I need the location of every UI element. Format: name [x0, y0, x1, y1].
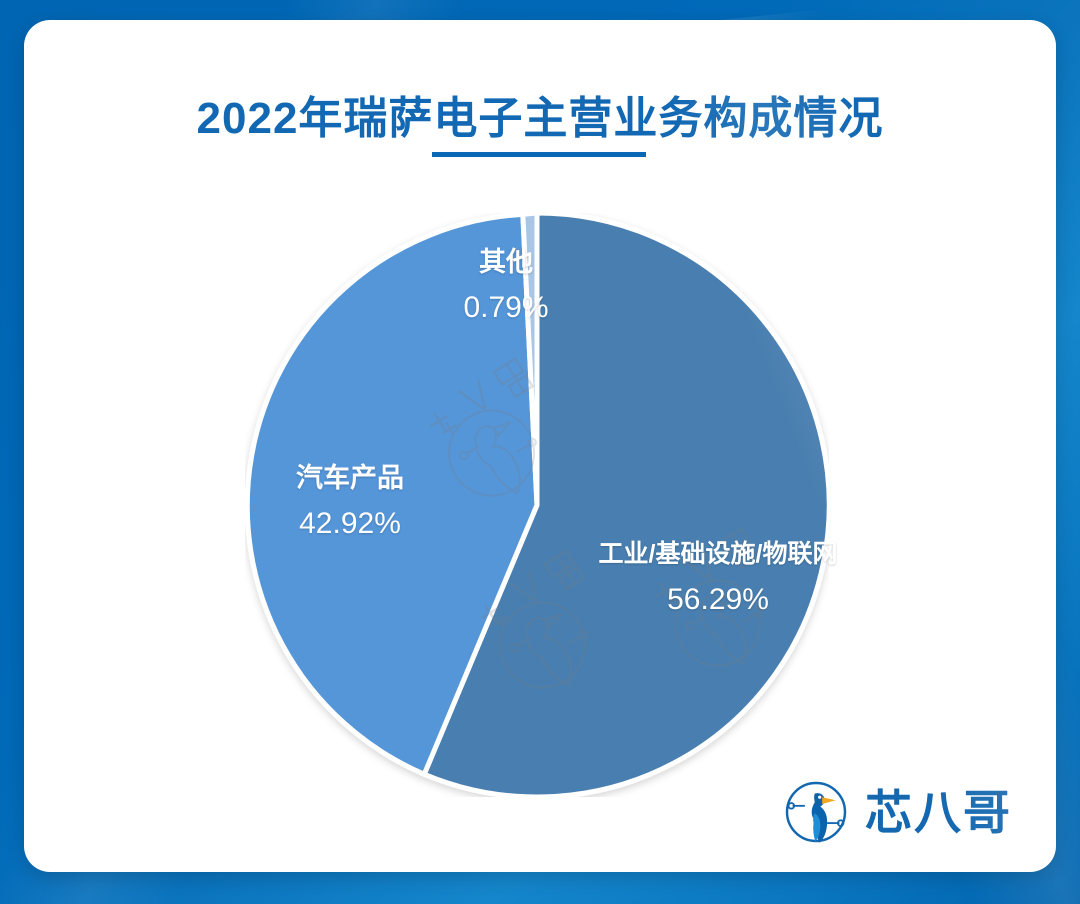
- bird-in-circle-icon: [779, 775, 853, 849]
- pie-label-other: 其他 0.79%: [426, 244, 586, 328]
- pie-label-industrial: 工业/基础设施/物联网 56.29%: [584, 538, 852, 620]
- pie-label-automotive: 汽车产品 42.92%: [240, 460, 460, 544]
- brand-logo: 芯八哥: [779, 774, 1012, 850]
- poster-background: 2022年瑞萨电子主营业务构成情况: [0, 0, 1080, 904]
- pie-label-automotive-value: 42.92%: [240, 504, 460, 544]
- brand-name: 芯八哥: [865, 789, 1012, 836]
- pie-label-industrial-name: 工业/基础设施/物联网: [584, 538, 852, 572]
- pie-chart: 其他 0.79% 汽车产品 42.92% 工业/基础设施/物联网 56.29%: [24, 188, 1056, 828]
- title-underline-rule: [432, 152, 646, 157]
- pie-label-other-name: 其他: [426, 244, 586, 280]
- page-title: 2022年瑞萨电子主营业务构成情况: [24, 82, 1056, 146]
- pie-label-automotive-name: 汽车产品: [240, 460, 460, 496]
- pie-label-industrial-value: 56.29%: [584, 580, 852, 620]
- pie-label-other-value: 0.79%: [426, 288, 586, 328]
- content-card: 2022年瑞萨电子主营业务构成情况: [24, 20, 1056, 872]
